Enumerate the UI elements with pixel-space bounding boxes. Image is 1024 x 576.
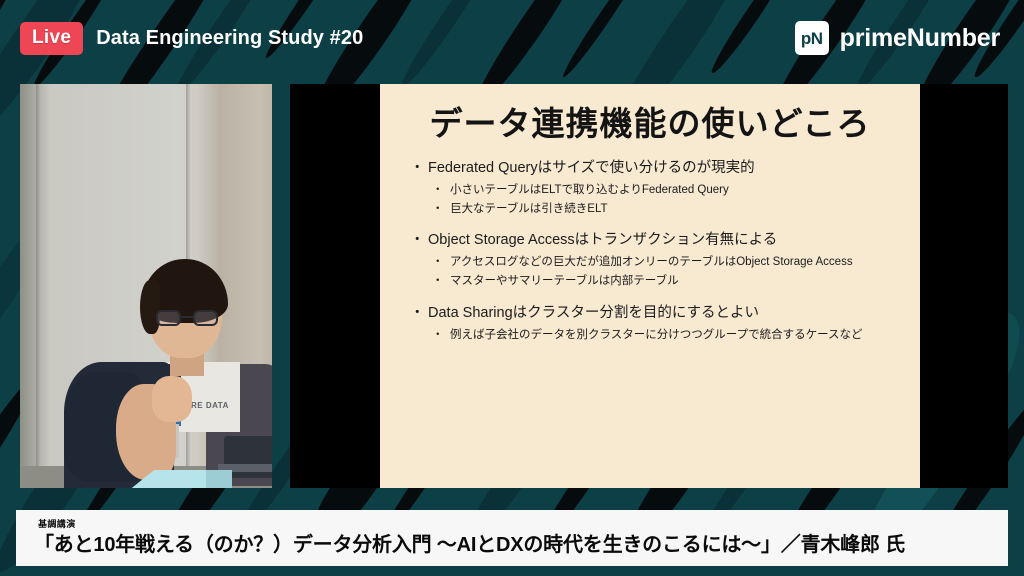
brand-lockup: pN primeNumber — [795, 21, 1000, 55]
logo-letter-p: p — [801, 30, 811, 47]
cam-wall-seam-left — [36, 84, 40, 488]
bullet-level2: 例えば子会社のデータを別クラスターに分けつつグループで統合するケースなど — [412, 327, 898, 344]
slide-title: データ連携機能の使いどころ — [394, 104, 906, 144]
presentation-slide: データ連携機能の使いどころ Federated Queryはサイズで使い分けるの… — [380, 84, 920, 488]
speaker-video-panel: TREASURE DATA — [20, 84, 272, 488]
bullet-level1: Data Sharingはクラスター分割を目的にするとよい — [412, 303, 898, 324]
slide-letterbox: データ連携機能の使いどころ Federated Queryはサイズで使い分けるの… — [290, 84, 1008, 488]
bullet-level2: アクセスログなどの巨大だが追加オンリーのテーブルはObject Storage … — [412, 254, 898, 271]
session-caption-bar: 基調講演 「あと10年戦える（のか？）データ分析入門 〜AIとDXの時代を生きの… — [16, 510, 1008, 566]
event-title: Data Engineering Study #20 — [96, 27, 363, 50]
bullet-level1: Federated Queryはサイズで使い分けるのが現実的 — [412, 158, 898, 179]
brand-name: primeNumber — [840, 24, 1000, 53]
bullet-level1: Object Storage Accessはトランザクション有無による — [412, 230, 898, 251]
broadcast-header: Live Data Engineering Study #20 pN prime… — [0, 0, 1024, 76]
eyeglasses-icon — [156, 310, 218, 326]
bullet-group: Federated Queryはサイズで使い分けるのが現実的 小さいテーブルはE… — [412, 158, 898, 219]
speaker-hand — [152, 376, 192, 422]
live-badge: Live — [20, 22, 83, 55]
session-kicker: 基調講演 — [38, 520, 990, 529]
session-title: 「あと10年戦える（のか？）データ分析入門 〜AIとDXの時代を生きのこるには〜… — [34, 534, 990, 556]
bullet-group: Data Sharingはクラスター分割を目的にするとよい 例えば子会社のデータ… — [412, 303, 898, 344]
bullet-level2: 小さいテーブルはELTで取り込むよりFederated Query — [412, 182, 898, 199]
bullet-group: Object Storage Accessはトランザクション有無による アクセス… — [412, 230, 898, 291]
logo-letter-n: N — [811, 30, 823, 47]
slide-bullet-list: Federated Queryはサイズで使い分けるのが現実的 小さいテーブルはE… — [394, 158, 906, 344]
primenumber-logo-icon: pN — [795, 21, 829, 55]
bullet-level2: 巨大なテーブルは引き続きELT — [412, 201, 898, 218]
podium-side — [206, 470, 232, 488]
bullet-level2: マスターやサマリーテーブルは内部テーブル — [412, 273, 898, 290]
broadcast-stage: Live Data Engineering Study #20 pN prime… — [0, 0, 1024, 576]
